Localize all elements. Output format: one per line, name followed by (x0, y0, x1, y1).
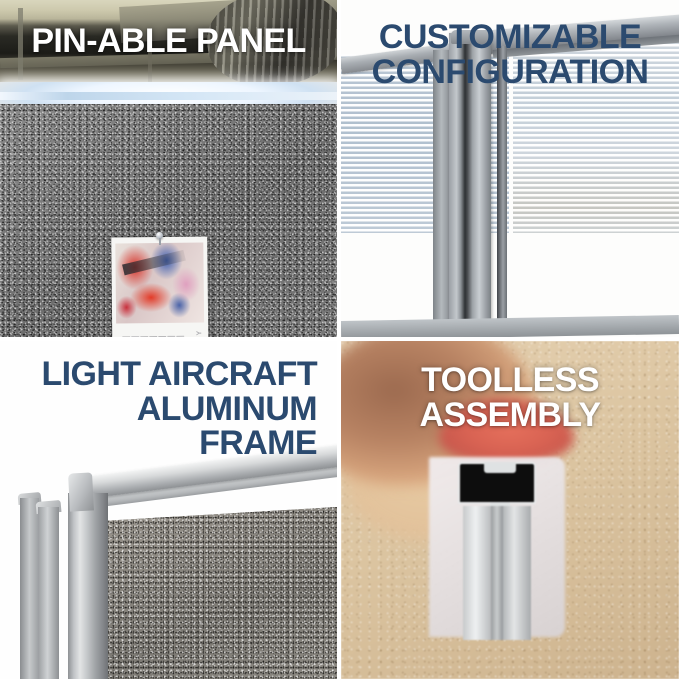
panel-pin-able-panel: FEBRUARY PIN-ABLE PANEL (0, 0, 337, 337)
extrusion-wall-left (463, 506, 491, 640)
ceiling-hanger-rod (18, 8, 23, 80)
frame-post-secondary (433, 50, 450, 337)
calendar-artwork (115, 243, 204, 324)
panel-toolless-assembly: TOOLLESS ASSEMBLY (341, 341, 679, 679)
panel-customizable-configuration: CUSTOMIZABLE CONFIGURATION (341, 0, 679, 337)
frame-post-main (449, 33, 491, 337)
glass-panel-edge (497, 46, 507, 337)
extrusion-wall-right (503, 506, 531, 640)
middle-post (38, 507, 59, 679)
spiral-duct-icon (202, 0, 337, 94)
corner-cap (68, 472, 94, 511)
frame-post-cap (451, 30, 491, 44)
pinned-calendar: FEBRUARY (111, 237, 209, 337)
extrusion-channel-cavity (458, 462, 536, 504)
extrusion-web-center (491, 506, 503, 640)
ceiling-hanger-rod-2 (148, 30, 152, 82)
fabric-insert-panel (104, 507, 337, 679)
ceiling-backdrop (0, 0, 337, 86)
feature-collage: FEBRUARY PIN-ABLE PANEL CUSTOMIZABLE CON… (0, 0, 679, 679)
push-pin-icon (154, 232, 165, 245)
calendar-date-grid (122, 333, 184, 337)
window-blinds-right (513, 34, 679, 233)
tackable-fabric-panel: FEBRUARY (0, 104, 337, 337)
panel-light-aircraft-aluminum-frame: LIGHT AIRCRAFT ALUMINUM FRAME (0, 341, 337, 679)
calendar-month-label: FEBRUARY (196, 329, 204, 337)
corner-post (68, 493, 108, 679)
rear-post (20, 498, 39, 679)
aluminum-extrusion-profile (457, 462, 537, 640)
light-glare-stripe (0, 92, 337, 100)
extrusion-top-notch (484, 462, 516, 473)
